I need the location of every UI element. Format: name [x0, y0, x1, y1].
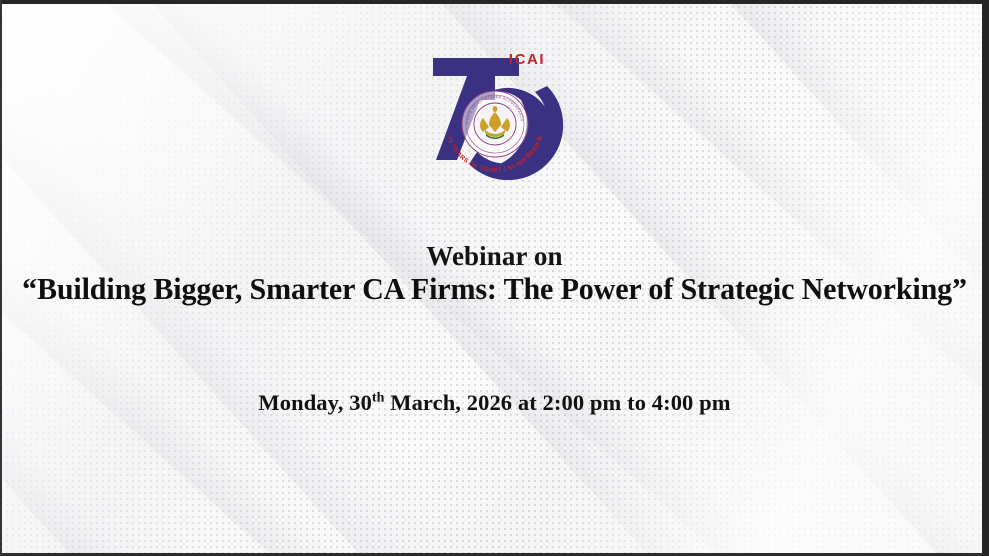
event-date-rest: March, 2026 at 2:00 pm to 4:00 pm [385, 390, 731, 415]
slide-border-left [0, 0, 2, 556]
slide-border-top [0, 0, 989, 4]
event-date-ordinal: th [372, 391, 385, 406]
event-date-number: 30 [349, 390, 372, 415]
webinar-announcement-slide: ICAI THE INSTITUTE OF CHARTERED ACCOUNTA… [0, 0, 989, 556]
slide-border-right [982, 0, 989, 556]
event-datetime: Monday, 30th March, 2026 at 2:00 pm to 4… [0, 390, 989, 416]
event-day: Monday, [258, 390, 349, 415]
slide-text-layer: Webinar on “Building Bigger, Smarter CA … [0, 0, 989, 556]
webinar-heading: Webinar on [0, 241, 989, 272]
webinar-title: “Building Bigger, Smarter CA Firms: The … [7, 272, 981, 307]
